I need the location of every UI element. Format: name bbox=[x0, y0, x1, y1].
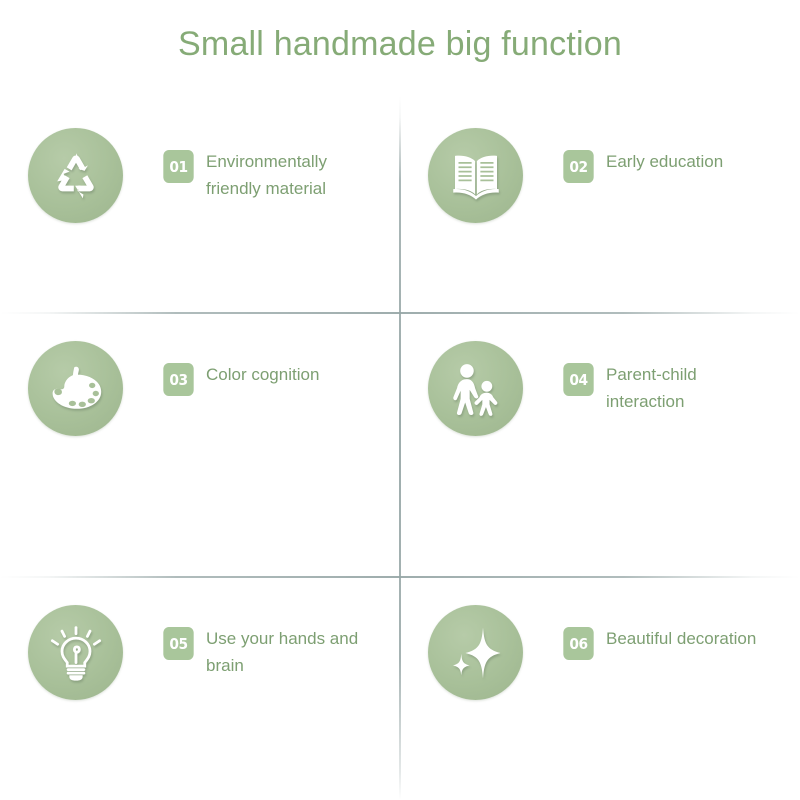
icon-circle-02 bbox=[428, 128, 523, 223]
recycle-icon bbox=[48, 148, 104, 204]
feature-item-06: 06 Beautiful decoration bbox=[400, 577, 800, 800]
page-title: Small handmade big function bbox=[0, 22, 800, 66]
parent-child-icon bbox=[447, 361, 505, 417]
feature-number-badge-03: 03 bbox=[163, 363, 193, 396]
feature-label-03: Color cognition bbox=[206, 361, 319, 388]
icon-circle-05 bbox=[28, 605, 123, 700]
feature-item-04: 04 Parent-child interaction bbox=[400, 313, 800, 577]
icon-circle-04 bbox=[428, 341, 523, 436]
feature-number-badge-02: 02 bbox=[563, 150, 593, 183]
features-grid: 01 Environmentally friendly material bbox=[0, 100, 800, 800]
icon-circle-06 bbox=[428, 605, 523, 700]
feature-item-05: 05 Use your hands and brain bbox=[0, 577, 400, 800]
feature-number-badge-05: 05 bbox=[163, 627, 193, 660]
feature-number-badge-01: 01 bbox=[163, 150, 193, 183]
lightbulb-icon bbox=[48, 624, 104, 682]
feature-label-05: Use your hands and brain bbox=[206, 625, 381, 679]
feature-label-02: Early education bbox=[606, 148, 723, 175]
icon-circle-01 bbox=[28, 128, 123, 223]
sparkle-icon bbox=[448, 624, 504, 682]
feature-number-badge-06: 06 bbox=[563, 627, 593, 660]
feature-body-04: 04 Parent-child interaction bbox=[562, 361, 778, 415]
feature-body-02: 02 Early education bbox=[562, 148, 723, 183]
feature-item-02: 02 Early education bbox=[400, 100, 800, 313]
open-book-icon bbox=[448, 150, 504, 202]
palette-icon bbox=[47, 362, 105, 416]
feature-body-05: 05 Use your hands and brain bbox=[162, 625, 381, 679]
feature-number-badge-04: 04 bbox=[563, 363, 593, 396]
feature-body-06: 06 Beautiful decoration bbox=[562, 625, 756, 660]
feature-body-01: 01 Environmentally friendly material bbox=[162, 148, 381, 202]
feature-label-01: Environmentally friendly material bbox=[206, 148, 381, 202]
feature-label-04: Parent-child interaction bbox=[606, 361, 778, 415]
feature-body-03: 03 Color cognition bbox=[162, 361, 319, 396]
feature-item-01: 01 Environmentally friendly material bbox=[0, 100, 400, 313]
feature-item-03: 03 Color cognition bbox=[0, 313, 400, 577]
feature-label-06: Beautiful decoration bbox=[606, 625, 756, 652]
icon-circle-03 bbox=[28, 341, 123, 436]
